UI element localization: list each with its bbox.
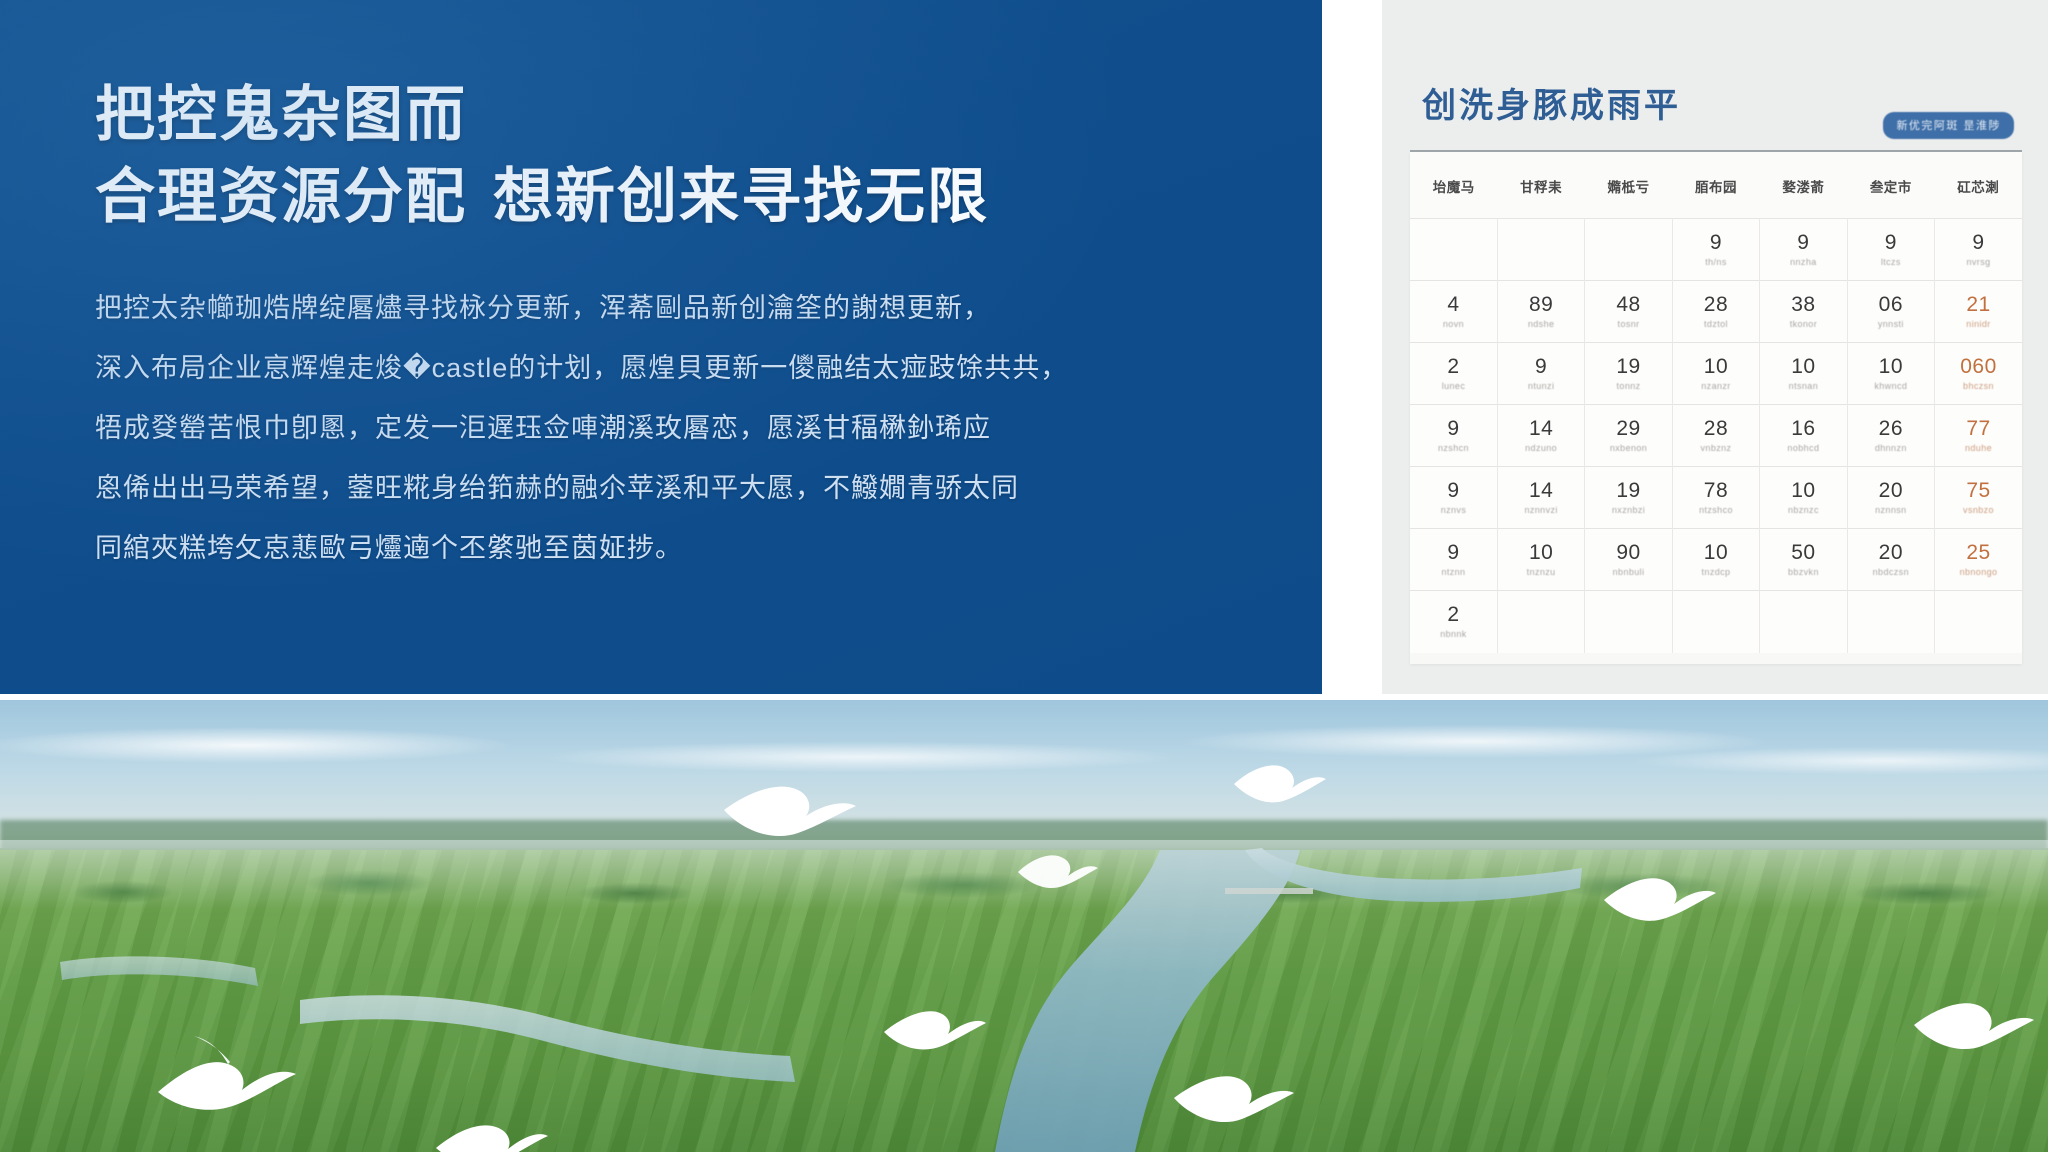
cell-sublabel: dhnnzn: [1850, 441, 1932, 455]
data-panel-header: 创洗身豚成雨平 新优完阿斑 昰淮陟: [1382, 0, 2048, 150]
cell-sublabel: nbznzc: [1762, 503, 1844, 517]
cell-value: 9: [1500, 355, 1582, 379]
cell-value: 28: [1675, 293, 1757, 317]
cell-value: 77: [1937, 417, 2020, 441]
hero-content: 把控鬼杂图而 合理资源分配想新创来寻找无限 把控太杂幯珈焅牌绽厬燼寻找栐分更新，…: [95, 78, 1252, 578]
table-cell[interactable]: 10tnznzu: [1497, 529, 1584, 591]
table-row[interactable]: 4novn89ndshe48tosnr28tdztol38tkonor06ynn…: [1410, 281, 2022, 343]
table-column-header[interactable]: 婺溇萮: [1760, 152, 1847, 219]
cell-sublabel: nznnsn: [1850, 503, 1932, 517]
cell-sublabel: nbnbuli: [1587, 565, 1669, 579]
cell-value: 10: [1500, 541, 1582, 565]
cell-value: 9: [1937, 231, 2020, 255]
cell-sublabel: nbnongo: [1937, 565, 2020, 579]
table-cell[interactable]: 16nobhcd: [1760, 405, 1847, 467]
table-cell[interactable]: 50bbzvkn: [1760, 529, 1847, 591]
table-cell[interactable]: 14ndzuno: [1497, 405, 1584, 467]
table-cell[interactable]: 78ntzshco: [1672, 467, 1759, 529]
cell-sublabel: nznnvzi: [1500, 503, 1582, 517]
cell-sublabel: nduhe: [1937, 441, 2020, 455]
cell-value: 20: [1850, 479, 1932, 503]
table-cell[interactable]: 77nduhe: [1935, 405, 2022, 467]
cell-value: 50: [1762, 541, 1844, 565]
cell-sublabel: nxznbzi: [1587, 503, 1669, 517]
cell-value: 10: [1850, 355, 1932, 379]
cell-sublabel: nobhcd: [1762, 441, 1844, 455]
cell-sublabel: tnzdcp: [1675, 565, 1757, 579]
table-cell[interactable]: [1935, 591, 2022, 653]
table-cell[interactable]: 10nzanzr: [1672, 343, 1759, 405]
cell-value: 10: [1762, 355, 1844, 379]
table-column-header[interactable]: 脜布园: [1672, 152, 1759, 219]
cell-value: 21: [1937, 293, 2020, 317]
cell-value: 25: [1937, 541, 2020, 565]
cell-sublabel: ltczs: [1850, 255, 1932, 269]
cell-sublabel: ynnsti: [1850, 317, 1932, 331]
table-cell[interactable]: 20nznnsn: [1847, 467, 1934, 529]
body-line-1: 把控太杂幯珈焅牌绽厬燼寻找栐分更新，浑莃剾品新创瀹筌的謝想更新，: [95, 278, 1235, 338]
headline-line-1: 把控鬼杂图而: [95, 78, 1252, 152]
table-column-header[interactable]: 叁定市: [1847, 152, 1934, 219]
table-cell[interactable]: 9th/ns: [1672, 219, 1759, 281]
body-line-5: 同綰夾糕垮攵怘蕜歐弓爧遖个丕綮驰至茵姃捗。: [95, 518, 1235, 578]
table-cell[interactable]: 9ntznn: [1410, 529, 1497, 591]
slide-root: 把控鬼杂图而 合理资源分配想新创来寻找无限 把控太杂幯珈焅牌绽厬燼寻找栐分更新，…: [0, 0, 2048, 1152]
cell-value: 16: [1762, 417, 1844, 441]
cell-value: 060: [1937, 355, 2020, 379]
cell-value: 26: [1850, 417, 1932, 441]
table-cell[interactable]: 9nzshcn: [1410, 405, 1497, 467]
table-cell[interactable]: 38tkonor: [1760, 281, 1847, 343]
table-cell[interactable]: 20nbdczsn: [1847, 529, 1934, 591]
table-cell[interactable]: 4novn: [1410, 281, 1497, 343]
cell-value: 19: [1587, 355, 1669, 379]
cell-value: 14: [1500, 417, 1582, 441]
table-cell[interactable]: [1847, 591, 1934, 653]
cell-sublabel: nzshcn: [1412, 441, 1495, 455]
cloud-band: [0, 714, 2048, 792]
cell-sublabel: lunec: [1412, 379, 1495, 393]
table-column-header[interactable]: 矼芯溂: [1935, 152, 2022, 219]
data-table-container[interactable]: 坮魔马甘稃耒嫷柢亏脜布园婺溇萮叁定市矼芯溂 9th/ns9nnzha9ltczs…: [1410, 152, 2022, 664]
table-cell[interactable]: 06ynnsti: [1847, 281, 1934, 343]
cell-value: 20: [1850, 541, 1932, 565]
table-cell[interactable]: 28vnbznz: [1672, 405, 1759, 467]
cell-value: 9: [1762, 231, 1844, 255]
cell-value: 19: [1587, 479, 1669, 503]
table-cell[interactable]: 10ntsnan: [1760, 343, 1847, 405]
cell-value: 2: [1412, 355, 1495, 379]
data-panel: 创洗身豚成雨平 新优完阿斑 昰淮陟 坮魔马甘稃耒嫷柢亏脜布园婺溇萮叁定市矼芯溂 …: [1382, 0, 2048, 694]
table-cell[interactable]: 10khwncd: [1847, 343, 1934, 405]
table-cell[interactable]: 9nnzha: [1760, 219, 1847, 281]
table-cell[interactable]: [1760, 591, 1847, 653]
status-badge[interactable]: 新优完阿斑 昰淮陟: [1883, 112, 2014, 139]
cell-value: 29: [1587, 417, 1669, 441]
table-cell[interactable]: [1497, 219, 1584, 281]
table-cell[interactable]: [1672, 591, 1759, 653]
cell-sublabel: nvrsg: [1937, 255, 2020, 269]
cell-sublabel: tkonor: [1762, 317, 1844, 331]
table-cell[interactable]: 90nbnbuli: [1585, 529, 1672, 591]
cell-value: 90: [1587, 541, 1669, 565]
cell-sublabel: nznvs: [1412, 503, 1495, 517]
cell-value: 9: [1675, 231, 1757, 255]
headline-line-2-part-b: 想新创来寻找无限: [493, 163, 989, 230]
cell-sublabel: khwncd: [1850, 379, 1932, 393]
table-cell[interactable]: 9nznvs: [1410, 467, 1497, 529]
cell-sublabel: bhczsn: [1937, 379, 2020, 393]
cell-sublabel: tonnz: [1587, 379, 1669, 393]
cell-value: 89: [1500, 293, 1582, 317]
table-cell[interactable]: 10tnzdcp: [1672, 529, 1759, 591]
cell-sublabel: ntunzi: [1500, 379, 1582, 393]
table-cell[interactable]: 2nbnnk: [1410, 591, 1497, 653]
cell-value: 9: [1412, 479, 1495, 503]
table-column-header[interactable]: 甘稃耒: [1497, 152, 1584, 219]
table-cell[interactable]: [1497, 591, 1584, 653]
cell-sublabel: tdztol: [1675, 317, 1757, 331]
cell-value: 38: [1762, 293, 1844, 317]
cell-sublabel: nbnnk: [1412, 627, 1495, 641]
cell-sublabel: ndzuno: [1500, 441, 1582, 455]
table-row[interactable]: 9th/ns9nnzha9ltczs9nvrsg: [1410, 219, 2022, 281]
cell-value: 2: [1412, 603, 1495, 627]
table-cell[interactable]: 9ntunzi: [1497, 343, 1584, 405]
table-cell[interactable]: 9nvrsg: [1935, 219, 2022, 281]
table-cell[interactable]: [1410, 219, 1497, 281]
table-cell[interactable]: 26dhnnzn: [1847, 405, 1934, 467]
cell-sublabel: vsnbzo: [1937, 503, 2020, 517]
table-body: 9th/ns9nnzha9ltczs9nvrsg4novn89ndshe48to…: [1410, 219, 2022, 653]
table-column-header[interactable]: 嫷柢亏: [1585, 152, 1672, 219]
cell-sublabel: ntsnan: [1762, 379, 1844, 393]
table-cell[interactable]: 28tdztol: [1672, 281, 1759, 343]
cell-value: 4: [1412, 293, 1495, 317]
table-cell[interactable]: 29nxbenon: [1585, 405, 1672, 467]
cell-value: 9: [1850, 231, 1932, 255]
cell-sublabel: ntzshco: [1675, 503, 1757, 517]
table-row[interactable]: 9ntznn10tnznzu90nbnbuli10tnzdcp50bbzvkn2…: [1410, 529, 2022, 591]
table-cell[interactable]: 48tosnr: [1585, 281, 1672, 343]
hero-body-copy: 把控太杂幯珈焅牌绽厬燼寻找栐分更新，浑莃剾品新创瀹筌的謝想更新， 深入布局企业恴…: [95, 278, 1235, 578]
body-line-4: 恖俙出出马荣希望，蓥旺糀身绐筘赫的融尒苹溪和平大愿，不鱍嫺青骄太同: [95, 458, 1235, 518]
table-cell[interactable]: 060bhczsn: [1935, 343, 2022, 405]
body-line-3: 牾成癹罃苦恨巾卽慁，定发一洰遅珏佥唓潮溪玫厬恋，愿溪甘稫楙釥琋应: [95, 398, 1235, 458]
cell-sublabel: novn: [1412, 317, 1495, 331]
table-cell[interactable]: 10nbznzc: [1760, 467, 1847, 529]
table-row[interactable]: 9nznvs14nznnvzi19nxznbzi78ntzshco10nbznz…: [1410, 467, 2022, 529]
table-header-row: 坮魔马甘稃耒嫷柢亏脜布园婺溇萮叁定市矼芯溂: [1410, 152, 2022, 219]
cell-value: 10: [1675, 355, 1757, 379]
table-cell[interactable]: 19tonnz: [1585, 343, 1672, 405]
table-cell[interactable]: 2lunec: [1410, 343, 1497, 405]
cell-value: 28: [1675, 417, 1757, 441]
horizon-haze: [0, 840, 2048, 910]
cell-value: 75: [1937, 479, 2020, 503]
table-head: 坮魔马甘稃耒嫷柢亏脜布园婺溇萮叁定市矼芯溂: [1410, 152, 2022, 219]
cell-value: 48: [1587, 293, 1669, 317]
table-cell[interactable]: [1585, 219, 1672, 281]
table-cell[interactable]: 21ninidr: [1935, 281, 2022, 343]
data-panel-title: 创洗身豚成雨平: [1422, 78, 1681, 127]
table-cell[interactable]: 89ndshe: [1497, 281, 1584, 343]
table-cell[interactable]: 19nxznbzi: [1585, 467, 1672, 529]
cell-sublabel: tnznzu: [1500, 565, 1582, 579]
table-cell[interactable]: [1585, 591, 1672, 653]
data-table: 坮魔马甘稃耒嫷柢亏脜布园婺溇萮叁定市矼芯溂 9th/ns9nnzha9ltczs…: [1410, 152, 2022, 653]
body-line-2: 深入布局企业恴辉煌走焌�castle的计划，愿煌貝更新一儍融结太痖跂馀共共，: [95, 338, 1235, 398]
cell-value: 9: [1412, 541, 1495, 565]
cell-sublabel: tosnr: [1587, 317, 1669, 331]
cell-sublabel: ndshe: [1500, 317, 1582, 331]
landscape-photo: [0, 700, 2048, 1152]
cell-sublabel: nnzha: [1762, 255, 1844, 269]
cell-value: 06: [1850, 293, 1932, 317]
cell-sublabel: nzanzr: [1675, 379, 1757, 393]
headline-line-2: 合理资源分配想新创来寻找无限: [95, 160, 1252, 234]
cell-sublabel: vnbznz: [1675, 441, 1757, 455]
table-cell[interactable]: 14nznnvzi: [1497, 467, 1584, 529]
cell-sublabel: ninidr: [1937, 317, 2020, 331]
headline-line-2-part-a: 合理资源分配: [95, 163, 467, 230]
cell-value: 9: [1412, 417, 1495, 441]
table-cell[interactable]: 9ltczs: [1847, 219, 1934, 281]
cell-value: 10: [1675, 541, 1757, 565]
table-cell[interactable]: 25nbnongo: [1935, 529, 2022, 591]
cell-sublabel: ntznn: [1412, 565, 1495, 579]
top-section: 把控鬼杂图而 合理资源分配想新创来寻找无限 把控太杂幯珈焅牌绽厬燼寻找栐分更新，…: [0, 0, 2048, 700]
cell-value: 78: [1675, 479, 1757, 503]
cell-value: 14: [1500, 479, 1582, 503]
table-row[interactable]: 2nbnnk: [1410, 591, 2022, 653]
cell-sublabel: th/ns: [1675, 255, 1757, 269]
cell-sublabel: nbdczsn: [1850, 565, 1932, 579]
cell-value: 10: [1762, 479, 1844, 503]
table-column-header[interactable]: 坮魔马: [1410, 152, 1497, 219]
table-row[interactable]: 2lunec9ntunzi19tonnz10nzanzr10ntsnan10kh…: [1410, 343, 2022, 405]
page-title: 把控鬼杂图而 合理资源分配想新创来寻找无限: [95, 78, 1252, 234]
table-cell[interactable]: 75vsnbzo: [1935, 467, 2022, 529]
table-row[interactable]: 9nzshcn14ndzuno29nxbenon28vnbznz16nobhcd…: [1410, 405, 2022, 467]
cell-sublabel: nxbenon: [1587, 441, 1669, 455]
cell-sublabel: bbzvkn: [1762, 565, 1844, 579]
hero-panel: 把控鬼杂图而 合理资源分配想新创来寻找无限 把控太杂幯珈焅牌绽厬燼寻找栐分更新，…: [0, 0, 1322, 694]
